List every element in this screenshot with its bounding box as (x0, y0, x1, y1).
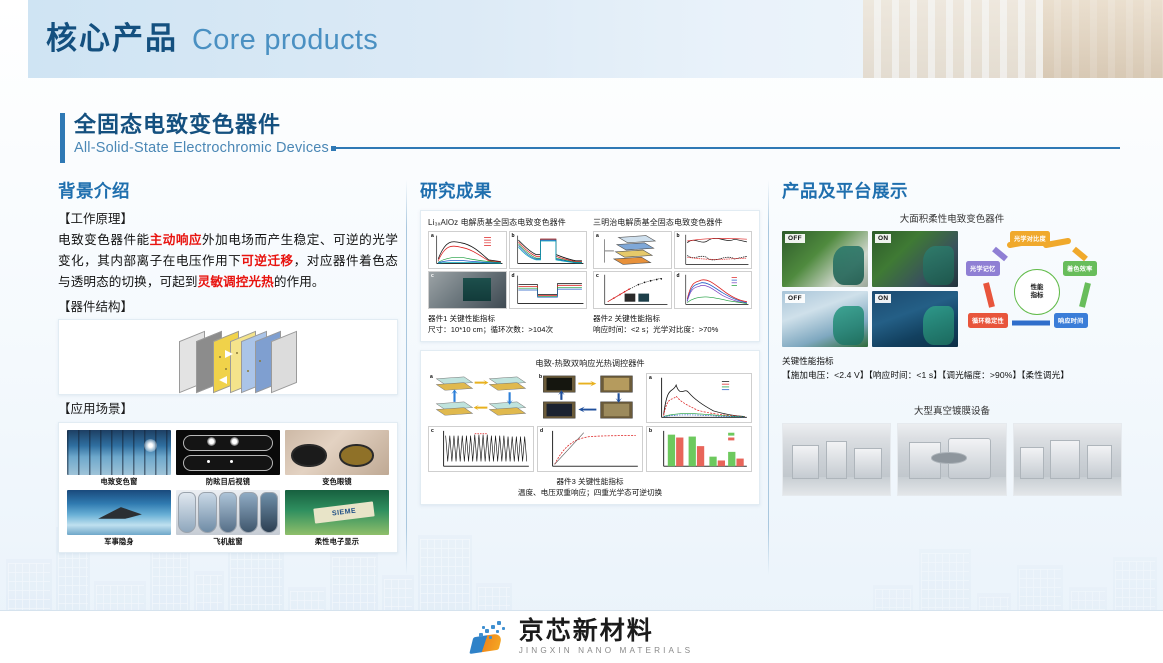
page-title: 核心产品 Core products (46, 13, 378, 58)
radial-label-optical-contrast: 光学对比度 (1010, 231, 1050, 246)
app-item-aircraft-window: 飞机舷窗 (176, 490, 280, 547)
column-background: 产品及平台展示 大面积柔性电致变色器件 OFF ON OFF ON (782, 178, 1122, 496)
figure-panel-a2: a (646, 373, 752, 423)
radial-label-optical-memory: 光学记忆 (966, 261, 1000, 276)
caption-text: 温度、电压双重响应；四重光学态可逆切换 (428, 487, 752, 498)
figure-panel-d: d (674, 271, 753, 309)
app-item-glasses: 变色眼镜 (285, 430, 389, 487)
charge-density-plot (594, 272, 671, 308)
leaf-sample-off: OFF (782, 231, 868, 287)
paragraph-part-1: 电致变色器件能 (58, 233, 150, 247)
app-item-mirror: 防眩目后视镜 (176, 430, 280, 487)
figure-group-1: Li₃ₓAlOz 电解质基全固态电致变色器件 a (428, 217, 587, 335)
app-caption: 防眩目后视镜 (206, 477, 250, 487)
principle-label: 【工作原理】 (58, 210, 398, 228)
section-title-en: All-Solid-State Electrochromic Devices (74, 140, 329, 156)
app-caption: 柔性电子显示 (315, 537, 359, 547)
caption-title: 器件2 关键性能指标 (593, 313, 752, 324)
radial-center-node: 性能 指标 (1014, 269, 1060, 315)
product-photo-grid: OFF ON OFF ON (782, 231, 958, 347)
paragraph-highlight-1: 主动响应 (150, 233, 202, 247)
figure-3-caption: 器件3 关键性能指标 温度、电压双重响应；四重光学态可逆切换 (428, 476, 752, 498)
figure-2-title: 三明治电解质基全固态电致变色器件 (593, 217, 752, 228)
state-badge: ON (875, 234, 891, 243)
device-structure-card (58, 319, 398, 395)
figure-panel-d: d (537, 426, 643, 472)
column-divider-2 (768, 180, 769, 575)
right-column-heading: 产品及平台展示 (782, 178, 1122, 203)
paragraph-highlight-3: 灵敏调控光热 (198, 275, 274, 289)
section-subtitle-row: All-Solid-State Electrochromic Devices (74, 140, 1120, 156)
column-background: 背景介绍 【工作原理】 电致变色器件能主动响应外加电场而产生稳定、可逆的光学变化… (58, 178, 398, 553)
scenario-label: 【应用场景】 (58, 400, 398, 418)
aircraft-window-image (176, 490, 280, 535)
figure-panel-d: d (509, 271, 588, 309)
figure-row: Li₃ₓAlOz 电解质基全固态电致变色器件 a (428, 217, 752, 335)
performance-radial-diagram: 光学对比度 光学记忆 着色效率 循环稳定性 响应时间 性能 指标 (966, 231, 1114, 341)
transmittance-four-states-plot (647, 374, 751, 422)
panel-label: c (431, 273, 434, 279)
app-caption: 电致变色窗 (101, 477, 138, 487)
section-rule (336, 147, 1120, 149)
figure-1-title: Li₃ₓAlOz 电解质基全固态电致变色器件 (428, 217, 587, 228)
transmittance-spectra-plot-2 (675, 272, 752, 308)
structure-label: 【器件结构】 (58, 298, 398, 316)
kpi-title: 关键性能指标 (782, 355, 1122, 367)
app-caption: 飞机舷窗 (213, 537, 243, 547)
reflectance-plot (675, 232, 752, 268)
app-caption: 变色眼镜 (322, 477, 352, 487)
radial-center-line2: 指标 (1031, 292, 1044, 300)
caption-title: 器件3 关键性能指标 (428, 476, 752, 487)
current-density-plot (510, 272, 587, 308)
product-showcase: OFF ON OFF ON (782, 231, 1122, 347)
photochromic-glasses-image (285, 430, 389, 475)
figure-group-2: 三明治电解质基全固态电致变色器件 a (593, 217, 752, 335)
app-item-stealth: 军事隐身 (67, 490, 171, 547)
slide-canvas: 核心产品 Core products 全固态电致变色器件 All-Solid-S… (0, 0, 1163, 663)
research-figures-card-top: Li₃ₓAlOz 电解质基全固态电致变色器件 a (420, 210, 760, 342)
radial-label-coloration-efficiency: 着色效率 (1063, 261, 1097, 276)
anti-glare-mirror-image (176, 430, 280, 475)
app-item-smart-window: 电致变色窗 (67, 430, 171, 487)
city-sample-off: OFF (782, 291, 868, 347)
state-badge: OFF (785, 234, 805, 243)
equipment-title: 大型真空镀膜设备 (782, 403, 1122, 417)
column-background: 研究成果 Li₃ₓAlOz 电解质基全固态电致变色器件 a (420, 178, 760, 505)
header-building-photo-2 (1043, 0, 1163, 78)
figure-panel-b: b (674, 231, 753, 269)
figure-panel-a: a (428, 373, 534, 423)
device-stack-schematic (594, 232, 671, 268)
section-accent-bar (60, 113, 65, 163)
leaf-sample-on: ON (872, 231, 958, 287)
figure-3-title: 电致-热致双响应光热调控器件 (428, 357, 752, 369)
figure-panel-b: b (537, 373, 643, 423)
radial-label-cycling-stability: 循环稳定性 (968, 313, 1008, 328)
company-logo-text: 京芯新材料 JINGXIN NANO MATERIALS (519, 618, 694, 656)
figure-2-caption: 器件2 关键性能指标 响应时间：<2 s；光学对比度：>70% (593, 313, 752, 335)
research-figures-card-bottom: 电致-热致双响应光热调控器件 a (420, 350, 760, 505)
principle-paragraph: 电致变色器件能主动响应外加电场而产生稳定、可逆的光学变化，其内部离子在电压作用下… (58, 230, 398, 293)
flexible-display-image (285, 490, 389, 535)
caption-text: 尺寸：10*10 cm；循环次数：>104次 (428, 324, 587, 335)
figure-panel-b: b (509, 231, 588, 269)
figure-panel-a: a (428, 231, 507, 269)
company-logo-icon (470, 620, 510, 654)
left-column-heading: 背景介绍 (58, 178, 398, 203)
state-badge: ON (875, 294, 891, 303)
transmittance-spectra-plot (429, 232, 506, 268)
device-photos-cycle (537, 373, 643, 423)
coating-machine-3 (1013, 423, 1122, 496)
coating-machine-1 (782, 423, 891, 496)
paragraph-part-4: 的作用。 (274, 275, 325, 289)
slide-footer: 京芯新材料 JINGXIN NANO MATERIALS (0, 611, 1163, 663)
page-title-cn: 核心产品 (46, 13, 178, 58)
app-item-flexible-display: 柔性电子显示 (285, 490, 389, 547)
page-title-en: Core products (192, 24, 378, 57)
radial-center-line1: 性能 (1031, 284, 1044, 292)
military-stealth-image (67, 490, 171, 535)
app-caption: 军事隐身 (104, 537, 134, 547)
middle-column-heading: 研究成果 (420, 178, 760, 203)
figure-1-caption: 器件1 关键性能指标 尺寸：10*10 cm；循环次数：>104次 (428, 313, 587, 335)
cycling-stability-plot (429, 427, 533, 471)
slide-header: 核心产品 Core products (28, 0, 1163, 78)
figure-panel-a: a (593, 231, 672, 269)
kpi-values: 【施加电压：<2.4 V】【响应时间：<1 s】【调光幅度：>90%】【柔性调光… (782, 369, 1122, 381)
column-divider-1 (406, 180, 407, 575)
switching-kinetics-plot (510, 232, 587, 268)
radial-label-response-time: 响应时间 (1054, 313, 1088, 328)
city-sample-on: ON (872, 291, 958, 347)
section-title: 全固态电致变色器件 All-Solid-State Electrochromic… (60, 110, 1120, 156)
figure-panel-c: c (428, 426, 534, 472)
charge-response-plot (538, 427, 642, 471)
caption-text: 响应时间：<2 s；光学对比度：>70% (593, 324, 752, 335)
optical-modulation-bar-chart (647, 427, 751, 471)
company-name-en: JINGXIN NANO MATERIALS (519, 645, 694, 656)
flexible-device-title: 大面积柔性电致变色器件 (782, 211, 1122, 225)
device-structure-diagram (179, 326, 309, 392)
state-badge: OFF (785, 294, 805, 303)
paragraph-highlight-2: 可逆迁移 (241, 254, 293, 268)
figure-panel-c: c (428, 271, 507, 309)
equipment-photo-row (782, 423, 1122, 496)
company-name-cn: 京芯新材料 (519, 618, 694, 645)
caption-title: 器件1 关键性能指标 (428, 313, 587, 324)
section-title-cn: 全固态电致变色器件 (74, 110, 1120, 140)
figure-panel-b2: b (646, 426, 752, 472)
coating-machine-2 (897, 423, 1006, 496)
smart-window-image (67, 430, 171, 475)
application-grid: 电致变色窗 防眩目后视镜 变色眼镜 (67, 430, 389, 547)
figure-panel-c: c (593, 271, 672, 309)
state-cycle-schematic (428, 373, 534, 423)
application-scenarios-card: 电致变色窗 防眩目后视镜 变色眼镜 (58, 422, 398, 553)
